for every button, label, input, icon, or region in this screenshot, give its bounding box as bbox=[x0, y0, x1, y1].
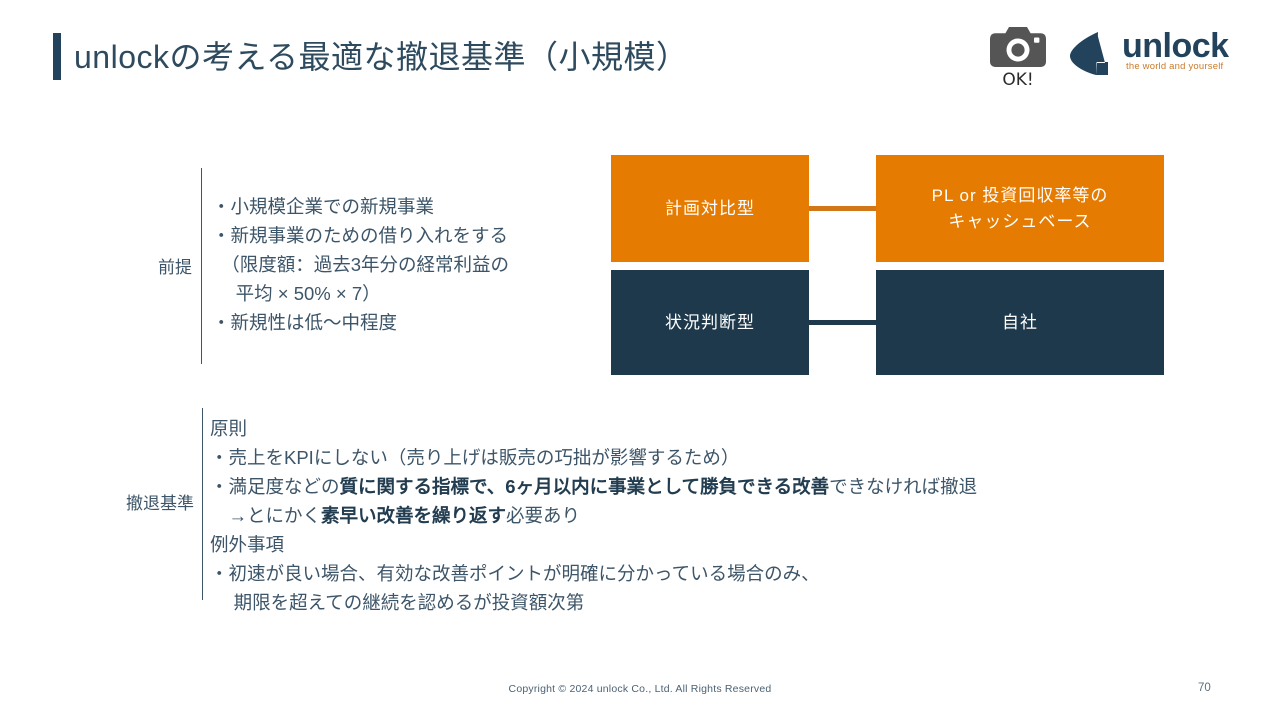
row-divider-premise bbox=[201, 168, 202, 364]
ok-label: OK! bbox=[985, 70, 1051, 90]
premise-text: ・小規模企業での新規事業 ・新規事業のための借り入れをする （限度額：過去3年分… bbox=[212, 192, 509, 337]
page-title: unlockの考える最適な撤退基準（小規模） bbox=[74, 34, 689, 80]
matrix-cell-label: 計画対比型 bbox=[665, 196, 755, 222]
matrix-connector-bottom bbox=[809, 320, 876, 325]
matrix-connector-top bbox=[809, 206, 876, 211]
matrix-cell-plan-comparison[interactable]: 計画対比型 bbox=[611, 155, 809, 262]
brand-logo: unlock the world and yourself bbox=[1068, 28, 1228, 78]
matrix-cell-own-company[interactable]: 自社 bbox=[876, 270, 1164, 375]
matrix-cell-label: 状況判断型 bbox=[665, 310, 755, 336]
unlock-mark-icon bbox=[1068, 30, 1116, 78]
camera-icon bbox=[990, 24, 1046, 69]
matrix-cell-cash-base[interactable]: PL or 投資回収率等の キャッシュベース bbox=[876, 155, 1164, 262]
slide-canvas: unlockの考える最適な撤退基準（小規模） OK! unlock the wo… bbox=[0, 0, 1280, 720]
row-label-premise: 前提 bbox=[120, 253, 192, 278]
unlock-wordmark: unlock bbox=[1122, 26, 1229, 66]
page-number: 70 bbox=[1198, 682, 1211, 694]
footer-copyright: Copyright © 2024 unlock Co., Ltd. All Ri… bbox=[0, 683, 1280, 695]
matrix-cell-label: 自社 bbox=[1002, 310, 1038, 336]
matrix-cell-label: PL or 投資回収率等の キャッシュベース bbox=[932, 183, 1109, 235]
row-divider-exit-criteria bbox=[202, 408, 203, 600]
row-label-exit-criteria: 撤退基準 bbox=[90, 489, 194, 514]
unlock-tagline: the world and yourself bbox=[1126, 61, 1223, 72]
title-accent-bar bbox=[53, 33, 61, 80]
exit-criteria-text: 原則 ・売上をKPIにしない（売り上げは販売の巧拙が影響するため） ・満足度など… bbox=[210, 414, 977, 617]
ok-badge: OK! bbox=[985, 24, 1051, 90]
matrix-cell-situational-judgement[interactable]: 状況判断型 bbox=[611, 270, 809, 375]
